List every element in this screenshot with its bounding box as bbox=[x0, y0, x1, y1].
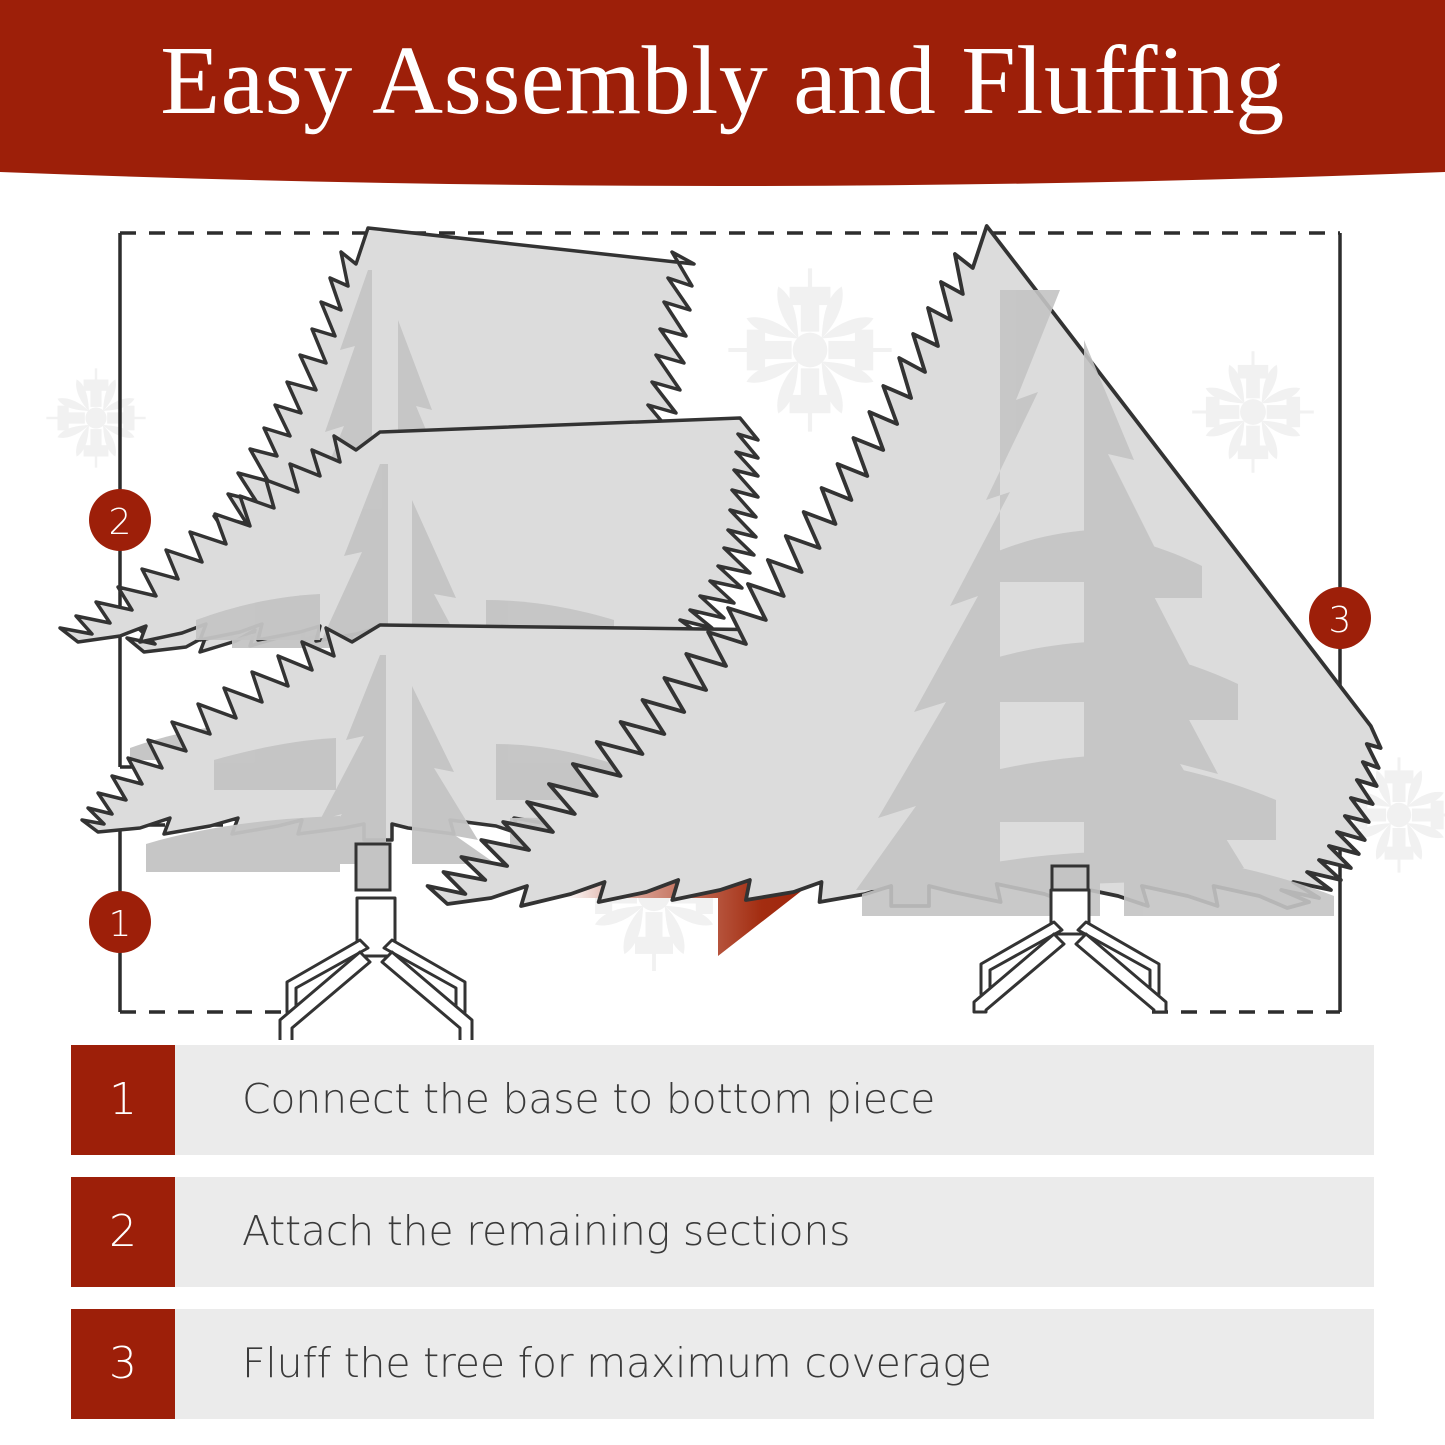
callout-2: 2 bbox=[89, 489, 151, 551]
callout-3-label: 3 bbox=[1329, 600, 1352, 641]
step-1-text: Connect the base to bottom piece bbox=[175, 1045, 1374, 1155]
assembly-steps-list: 1 Connect the base to bottom piece 2 Att… bbox=[0, 1040, 1445, 1445]
step-2-text: Attach the remaining sections bbox=[175, 1177, 1374, 1287]
callout-3: 3 bbox=[1309, 587, 1371, 649]
snowflake-icon bbox=[1192, 351, 1314, 473]
header-banner: Easy Assembly and Fluffing bbox=[0, 0, 1445, 200]
diagram-canvas: 2 1 3 bbox=[0, 200, 1445, 1040]
step-row-2: 2 Attach the remaining sections bbox=[71, 1177, 1374, 1287]
step-row-1: 1 Connect the base to bottom piece bbox=[71, 1045, 1374, 1155]
snowflake-icon bbox=[46, 368, 145, 467]
page-title: Easy Assembly and Fluffing bbox=[0, 26, 1445, 136]
tree-assembly-diagram: 2 1 3 bbox=[0, 200, 1445, 1040]
callout-1: 1 bbox=[89, 891, 151, 953]
callout-2-label: 2 bbox=[109, 502, 132, 543]
step-row-3: 3 Fluff the tree for maximum coverage bbox=[71, 1309, 1374, 1419]
step-2-number: 2 bbox=[71, 1177, 175, 1287]
callout-1-label: 1 bbox=[109, 904, 132, 945]
tree-stand bbox=[280, 898, 472, 1040]
step-3-text: Fluff the tree for maximum coverage bbox=[175, 1309, 1374, 1419]
step-3-number: 3 bbox=[71, 1309, 175, 1419]
snowflake-icon bbox=[728, 268, 891, 431]
step-1-number: 1 bbox=[71, 1045, 175, 1155]
